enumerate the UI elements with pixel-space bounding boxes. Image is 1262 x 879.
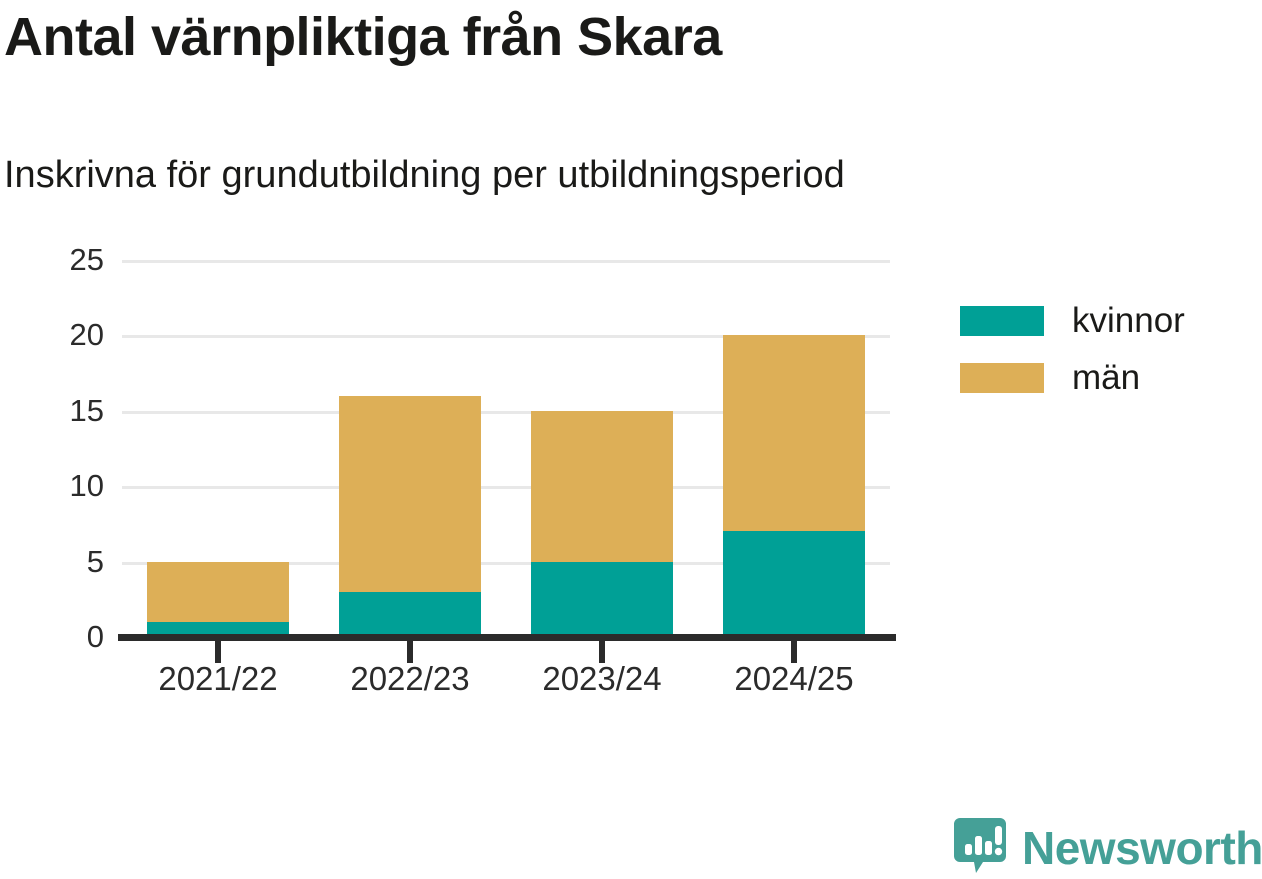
newsworthy-logo: Newsworthy — [952, 816, 1262, 879]
bar-group[interactable] — [723, 260, 865, 637]
x-tick-label: 2023/24 — [542, 660, 661, 698]
chart-title: Antal värnpliktiga från Skara — [4, 8, 722, 67]
chart-subtitle: Inskrivna för grundutbildning per utbild… — [4, 155, 845, 197]
bar-segment-kvinnor[interactable] — [723, 531, 865, 637]
y-tick-label: 10 — [14, 468, 104, 504]
x-axis-line — [118, 634, 896, 641]
legend-swatch — [960, 306, 1044, 336]
legend-item-män[interactable]: män — [960, 349, 1185, 406]
bar-group[interactable] — [531, 260, 673, 637]
x-tick-label: 2021/22 — [158, 660, 277, 698]
bar-segment-män[interactable] — [531, 411, 673, 562]
bar-group[interactable] — [339, 260, 481, 637]
x-tick-label: 2024/25 — [734, 660, 853, 698]
legend-item-kvinnor[interactable]: kvinnor — [960, 292, 1185, 349]
speech-bubble-bar-chart-icon — [952, 816, 1008, 879]
y-tick-label: 0 — [14, 619, 104, 655]
y-tick-label: 20 — [14, 317, 104, 353]
bar-segment-män[interactable] — [147, 562, 289, 622]
y-tick-label: 5 — [14, 544, 104, 580]
chart-legend: kvinnormän — [960, 292, 1185, 406]
y-tick-label: 15 — [14, 393, 104, 429]
x-tick-label: 2022/23 — [350, 660, 469, 698]
legend-swatch — [960, 363, 1044, 393]
y-axis-labels: 0510152025 — [0, 0, 104, 879]
bar-segment-män[interactable] — [723, 335, 865, 531]
legend-label: män — [1072, 358, 1140, 398]
y-tick-label: 25 — [14, 242, 104, 278]
legend-label: kvinnor — [1072, 301, 1185, 341]
bar-segment-män[interactable] — [339, 396, 481, 592]
bar-segment-kvinnor[interactable] — [339, 592, 481, 637]
bar-group[interactable] — [147, 260, 289, 637]
brand-name: Newsworthy — [1022, 821, 1262, 875]
bar-segment-kvinnor[interactable] — [531, 562, 673, 637]
plot-area — [122, 255, 890, 639]
